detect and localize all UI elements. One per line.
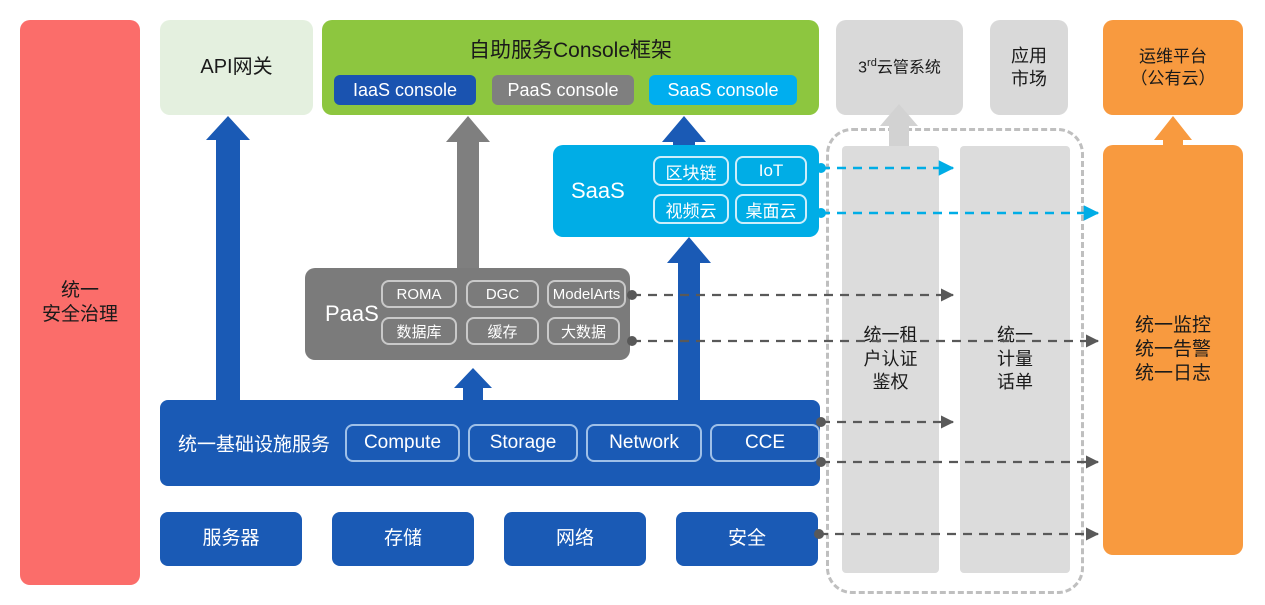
resource-box-security[interactable]: 安全 [676,512,818,566]
console-chip-saas-label: SaaS console [667,80,778,101]
arrow-paas-to-console [446,116,490,268]
infra-chip-cce[interactable]: CCE [710,424,820,462]
arrow-saas-to-console [662,116,706,145]
architecture-diagram: 统一 安全治理 API网关 自助服务Console框架 IaaS console… [0,0,1265,605]
paas-block: PaaS ROMA DGC ModelArts 数据库 缓存 大数据 [305,268,630,360]
unified-security-governance-label: 统一 安全治理 [42,279,118,327]
saas-chip-blockchain-label: 区块链 [666,159,717,184]
unified-security-governance-panel: 统一 安全治理 [20,20,140,585]
saas-chip-desktop-cloud[interactable]: 桌面云 [735,194,807,224]
api-gateway-label: API网关 [200,55,272,80]
resource-box-network-label: 网络 [556,527,594,551]
third-party-cloud-mgmt-label: 3rd云管系统 [858,57,941,78]
app-market-box[interactable]: 应用 市场 [990,20,1068,115]
app-market-label: 应用 市场 [1011,45,1047,90]
saas-chip-iot-label: IoT [759,161,784,181]
paas-chip-roma-label: ROMA [397,286,442,303]
shared-service-column-metering-label: 统一 计量 话单 [997,324,1033,394]
saas-chip-iot[interactable]: IoT [735,156,807,186]
shared-service-column-auth: 统一租 户认证 鉴权 [842,146,939,573]
arrow-infra-to-saas [667,237,711,400]
shared-service-column-auth-label: 统一租 户认证 鉴权 [864,324,918,394]
unified-monitoring-label: 统一监控 统一告警 统一日志 [1135,314,1211,385]
unified-infrastructure-bar: 统一基础设施服务 Compute Storage Network CCE [160,400,820,486]
ops-platform-box[interactable]: 运维平台 （公有云） [1103,20,1243,115]
console-chip-saas[interactable]: SaaS console [649,75,797,105]
resource-box-network[interactable]: 网络 [504,512,646,566]
console-chip-iaas[interactable]: IaaS console [334,75,476,105]
saas-chip-video-cloud-label: 视频云 [666,197,717,222]
console-frame-title: 自助服务Console框架 [322,34,819,64]
saas-block: SaaS 区块链 IoT 视频云 桌面云 [553,145,819,237]
infra-chip-compute[interactable]: Compute [345,424,460,462]
paas-chip-cache[interactable]: 缓存 [466,317,539,345]
infra-chip-network[interactable]: Network [586,424,702,462]
resource-box-server[interactable]: 服务器 [160,512,302,566]
arrow-into-ops-platform [1154,116,1192,147]
paas-chip-bigdata-label: 大数据 [561,321,606,342]
paas-chip-database-label: 数据库 [396,321,441,342]
third-party-cloud-mgmt-box[interactable]: 3rd云管系统 [836,20,963,115]
console-chip-paas-label: PaaS console [507,80,618,101]
resource-box-security-label: 安全 [728,527,766,551]
infra-chip-cce-label: CCE [745,432,785,454]
infra-chip-storage-label: Storage [490,432,557,454]
paas-chip-database[interactable]: 数据库 [381,317,457,345]
self-service-console-frame: 自助服务Console框架 IaaS console PaaS console … [322,20,819,115]
saas-block-label: SaaS [571,178,625,204]
console-chip-iaas-label: IaaS console [353,80,457,101]
resource-box-server-label: 服务器 [202,527,259,551]
arrow-infra-to-api-gateway [206,116,250,400]
ops-platform-label: 运维平台 （公有云） [1131,46,1216,89]
console-chip-paas[interactable]: PaaS console [492,75,634,105]
shared-service-column-metering: 统一 计量 话单 [960,146,1070,573]
paas-chip-roma[interactable]: ROMA [381,280,457,308]
arrow-infra-to-paas [454,368,492,400]
paas-chip-dgc[interactable]: DGC [466,280,539,308]
saas-chip-video-cloud[interactable]: 视频云 [653,194,729,224]
paas-block-label: PaaS [325,301,379,327]
paas-chip-modelarts[interactable]: ModelArts [547,280,626,308]
resource-box-storage[interactable]: 存储 [332,512,474,566]
paas-chip-dgc-label: DGC [486,286,519,303]
unified-monitoring-panel: 统一监控 统一告警 统一日志 [1103,145,1243,555]
paas-chip-modelarts-label: ModelArts [553,286,621,303]
paas-chip-cache-label: 缓存 [487,321,517,342]
api-gateway-box[interactable]: API网关 [160,20,313,115]
infra-chip-compute-label: Compute [364,432,441,454]
unified-infrastructure-label: 统一基础设施服务 [178,430,330,457]
saas-chip-blockchain[interactable]: 区块链 [653,156,729,186]
saas-chip-desktop-cloud-label: 桌面云 [746,197,797,222]
paas-chip-bigdata[interactable]: 大数据 [547,317,620,345]
infra-chip-network-label: Network [609,432,679,454]
resource-box-storage-label: 存储 [384,527,422,551]
infra-chip-storage[interactable]: Storage [468,424,578,462]
